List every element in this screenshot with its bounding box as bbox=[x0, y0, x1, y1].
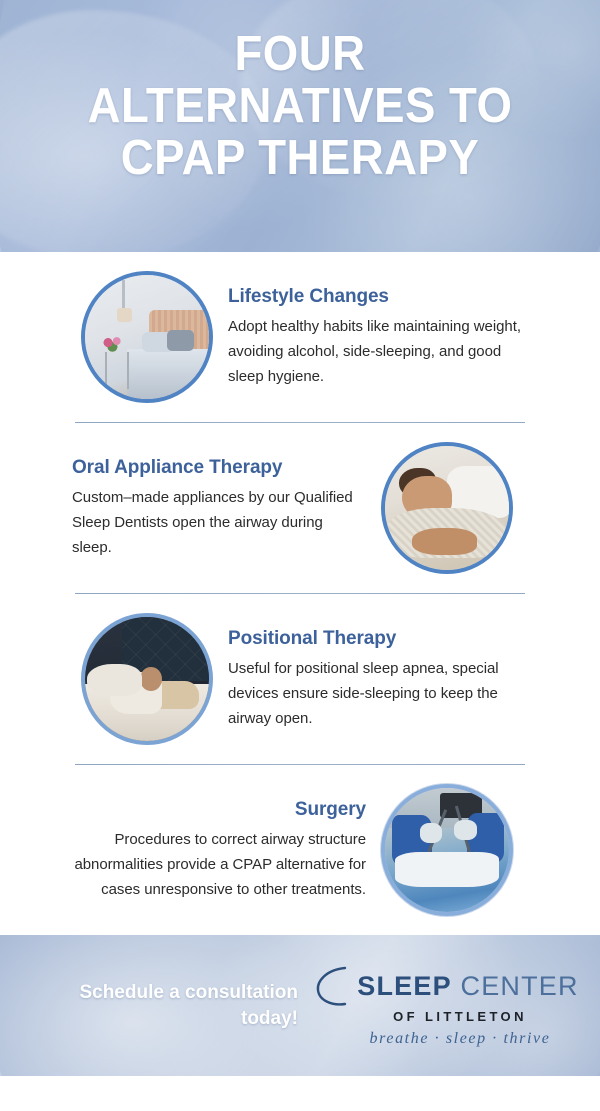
header-banner: FOUR ALTERNATIVES TO CPAP THERAPY bbox=[0, 0, 600, 252]
brand-logo: SLEEP CENTER OF LITTLETON breathe · slee… bbox=[310, 964, 600, 1048]
photo-wrap-3 bbox=[72, 613, 222, 745]
page-title: FOUR ALTERNATIVES TO CPAP THERAPY bbox=[21, 28, 579, 184]
logo-wordmark: SLEEP CENTER bbox=[357, 971, 578, 1001]
section-positional-therapy: Positional Therapy Useful for positional… bbox=[0, 594, 600, 764]
section-heading-3: Positional Therapy bbox=[228, 628, 528, 650]
photo-wrap-4 bbox=[372, 784, 522, 916]
section-lifestyle-changes: Lifestyle Changes Adopt healthy habits l… bbox=[0, 252, 600, 422]
sections-list: Lifestyle Changes Adopt healthy habits l… bbox=[0, 252, 600, 935]
section-body-3: Useful for positional sleep apnea, speci… bbox=[228, 656, 528, 731]
logo-word-sleep: SLEEP bbox=[357, 971, 452, 1001]
crescent-moon-icon bbox=[315, 964, 349, 1008]
section-heading-2: Oral Appliance Therapy bbox=[72, 457, 366, 479]
section-body-4: Procedures to correct airway structure a… bbox=[72, 827, 366, 902]
logo-tagline: breathe · sleep · thrive bbox=[370, 1030, 551, 1048]
section-surgery: Surgery Procedures to correct airway str… bbox=[0, 765, 600, 935]
title-line-1: FOUR bbox=[21, 28, 579, 80]
logo-word-center: CENTER bbox=[461, 971, 579, 1001]
cta-line-1: Schedule a consultation bbox=[18, 980, 298, 1006]
text-col-1: Lifestyle Changes Adopt healthy habits l… bbox=[222, 286, 600, 389]
text-col-2: Oral Appliance Therapy Custom–made appli… bbox=[0, 457, 372, 560]
section-heading-1: Lifestyle Changes bbox=[228, 286, 528, 308]
surgery-photo bbox=[381, 784, 513, 916]
section-body-1: Adopt healthy habits like maintaining we… bbox=[228, 314, 528, 389]
dark-bedroom-photo bbox=[81, 613, 213, 745]
photo-wrap-2 bbox=[372, 442, 522, 574]
man-sleeping-photo bbox=[381, 442, 513, 574]
text-col-4: Surgery Procedures to correct airway str… bbox=[0, 799, 372, 902]
title-line-3: CPAP THERAPY bbox=[21, 132, 579, 184]
footer-banner: Schedule a consultation today! SLEEP CEN… bbox=[0, 935, 600, 1076]
logo-subtitle: OF LITTLETON bbox=[393, 1009, 527, 1025]
text-col-3: Positional Therapy Useful for positional… bbox=[222, 628, 600, 731]
title-line-2: ALTERNATIVES TO bbox=[21, 80, 579, 132]
infographic-root: FOUR ALTERNATIVES TO CPAP THERAPY bbox=[0, 0, 600, 1111]
cta-line-2: today! bbox=[18, 1006, 298, 1032]
bedroom-photo bbox=[81, 271, 213, 403]
section-heading-4: Surgery bbox=[72, 799, 366, 821]
section-body-2: Custom–made appliances by our Qualified … bbox=[72, 485, 366, 560]
cta-text: Schedule a consultation today! bbox=[0, 980, 310, 1032]
section-oral-appliance-therapy: Oral Appliance Therapy Custom–made appli… bbox=[0, 423, 600, 593]
photo-wrap-1 bbox=[72, 271, 222, 403]
